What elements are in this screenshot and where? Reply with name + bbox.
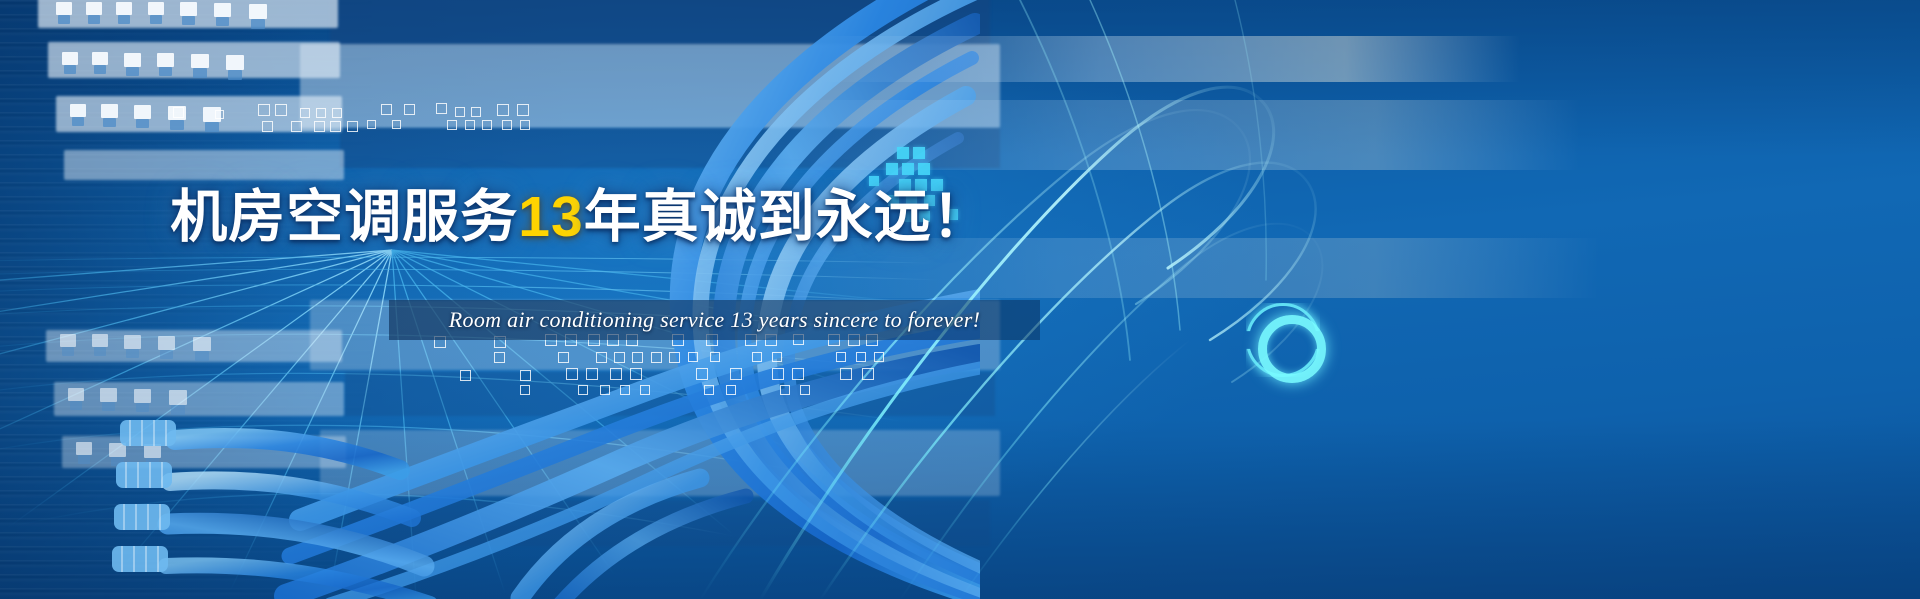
decor-square <box>897 147 909 159</box>
headline-prefix: 机房空调服务 <box>170 185 518 249</box>
hero-banner: 机房空调服务13年真诚到永远！ Room air conditioning se… <box>0 0 1920 599</box>
headline-suffix: 年真诚到永远！ <box>584 185 990 249</box>
headline-year-number: 13 <box>518 185 583 249</box>
banner-subtitle: Room air conditioning service 13 years s… <box>389 300 1040 340</box>
banner-headline: 机房空调服务13年真诚到永远！ <box>0 171 1160 253</box>
decor-square <box>913 147 925 159</box>
